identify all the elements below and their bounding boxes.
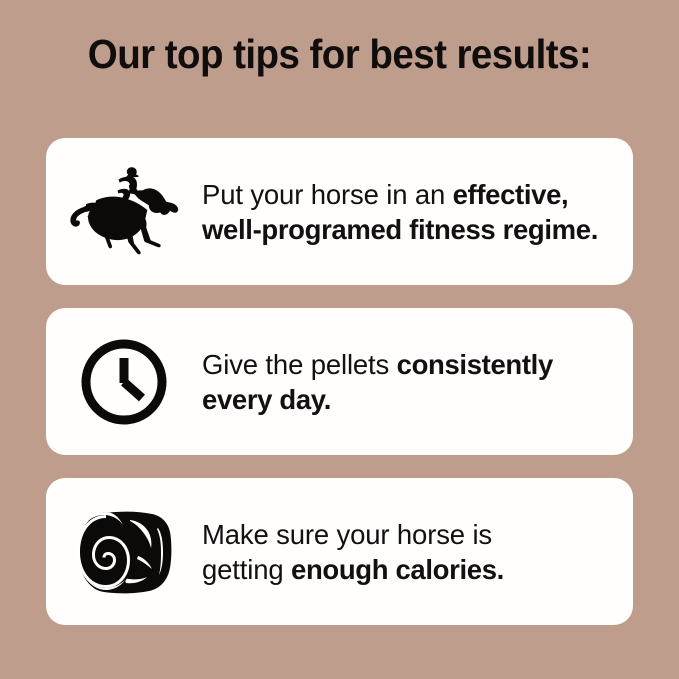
tip-text-emphasis: enough calories. xyxy=(291,554,504,585)
tip-text-lead: Give the pellets xyxy=(202,349,397,380)
tip-card-calories: Make sure your horse is getting enough c… xyxy=(46,478,633,625)
hay-bale-icon xyxy=(46,478,202,625)
tip-card-text: Make sure your horse is getting enough c… xyxy=(202,517,590,587)
tip-card-fitness-regime: Put your horse in an effective, well-pro… xyxy=(46,138,633,285)
clock-icon xyxy=(46,308,202,455)
tips-card-list: Put your horse in an effective, well-pro… xyxy=(46,138,633,625)
tips-poster: Our top tips for best results: xyxy=(0,0,679,679)
tip-card-consistency: Give the pellets consistently every day. xyxy=(46,308,633,455)
tip-card-text: Give the pellets consistently every day. xyxy=(202,347,618,417)
tip-card-text: Put your horse in an effective, well-pro… xyxy=(202,177,626,247)
horse-and-rider-icon xyxy=(46,138,202,285)
tip-text-lead: Put your horse in an xyxy=(202,179,453,210)
page-title: Our top tips for best results: xyxy=(20,30,658,78)
